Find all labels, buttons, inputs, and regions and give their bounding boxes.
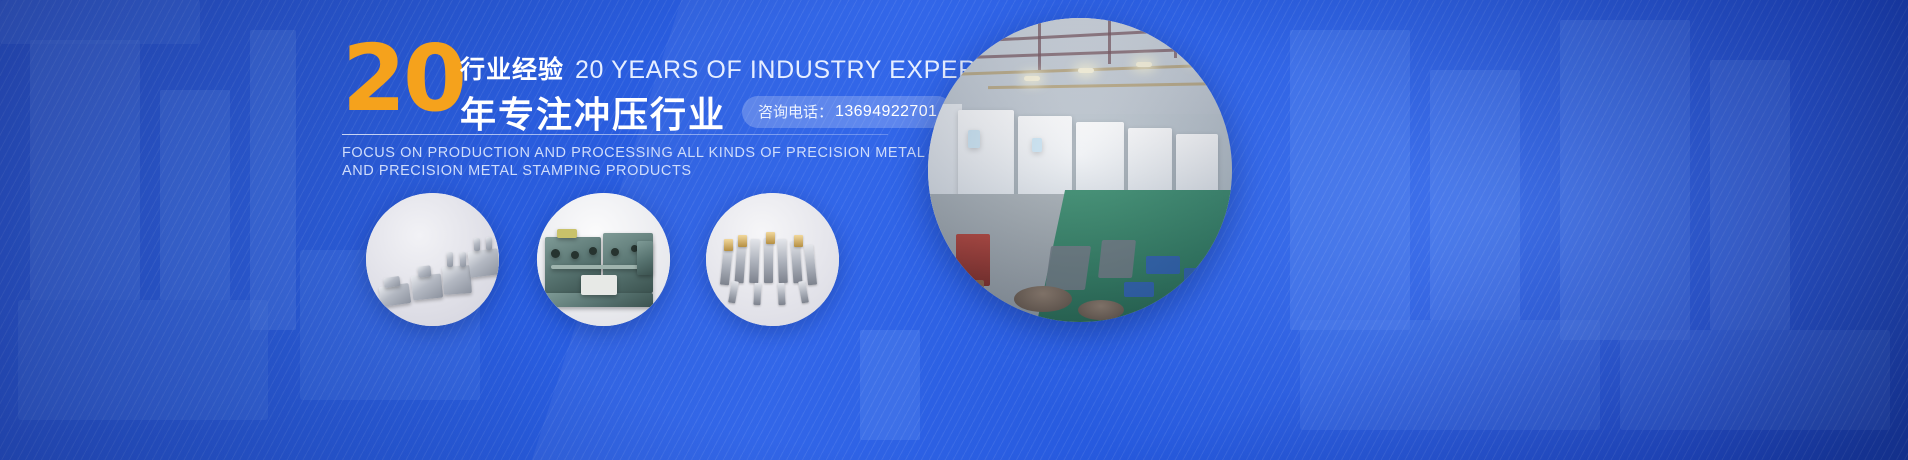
subtitle-block: FOCUS ON PRODUCTION AND PROCESSING ALL K… xyxy=(342,144,902,180)
product-circle-terminal-pins xyxy=(706,193,839,326)
headline-block: 20 行业经验 20 YEARS OF INDUSTRY EXPERIENCE … xyxy=(338,38,898,120)
divider-rule xyxy=(342,134,888,135)
product-circle-connectors xyxy=(366,193,499,326)
product-circle-stamping-mold xyxy=(537,193,670,326)
subtitle-line-2: AND PRECISION METAL STAMPING PRODUCTS xyxy=(342,162,902,180)
phone-number[interactable]: 13694922701 xyxy=(835,103,937,121)
promo-banner: 20 行业经验 20 YEARS OF INDUSTRY EXPERIENCE … xyxy=(0,0,1908,460)
subtitle-line-1: FOCUS ON PRODUCTION AND PROCESSING ALL K… xyxy=(342,144,902,162)
stamping-focus-cn: 年专注冲压行业 xyxy=(460,86,726,138)
factory-photo xyxy=(928,18,1232,322)
years-number: 20 xyxy=(342,36,464,122)
phone-badge[interactable]: 咨询电话： 13694922701 xyxy=(742,96,953,128)
phone-label: 咨询电话： xyxy=(758,101,833,122)
photo-shading xyxy=(928,18,1232,322)
headline-line-2: 年专注冲压行业 咨询电话： 13694922701 xyxy=(460,86,953,138)
headline-rows: 20 行业经验 20 YEARS OF INDUSTRY EXPERIENCE … xyxy=(338,38,898,120)
industry-experience-cn: 行业经验 xyxy=(460,50,564,86)
